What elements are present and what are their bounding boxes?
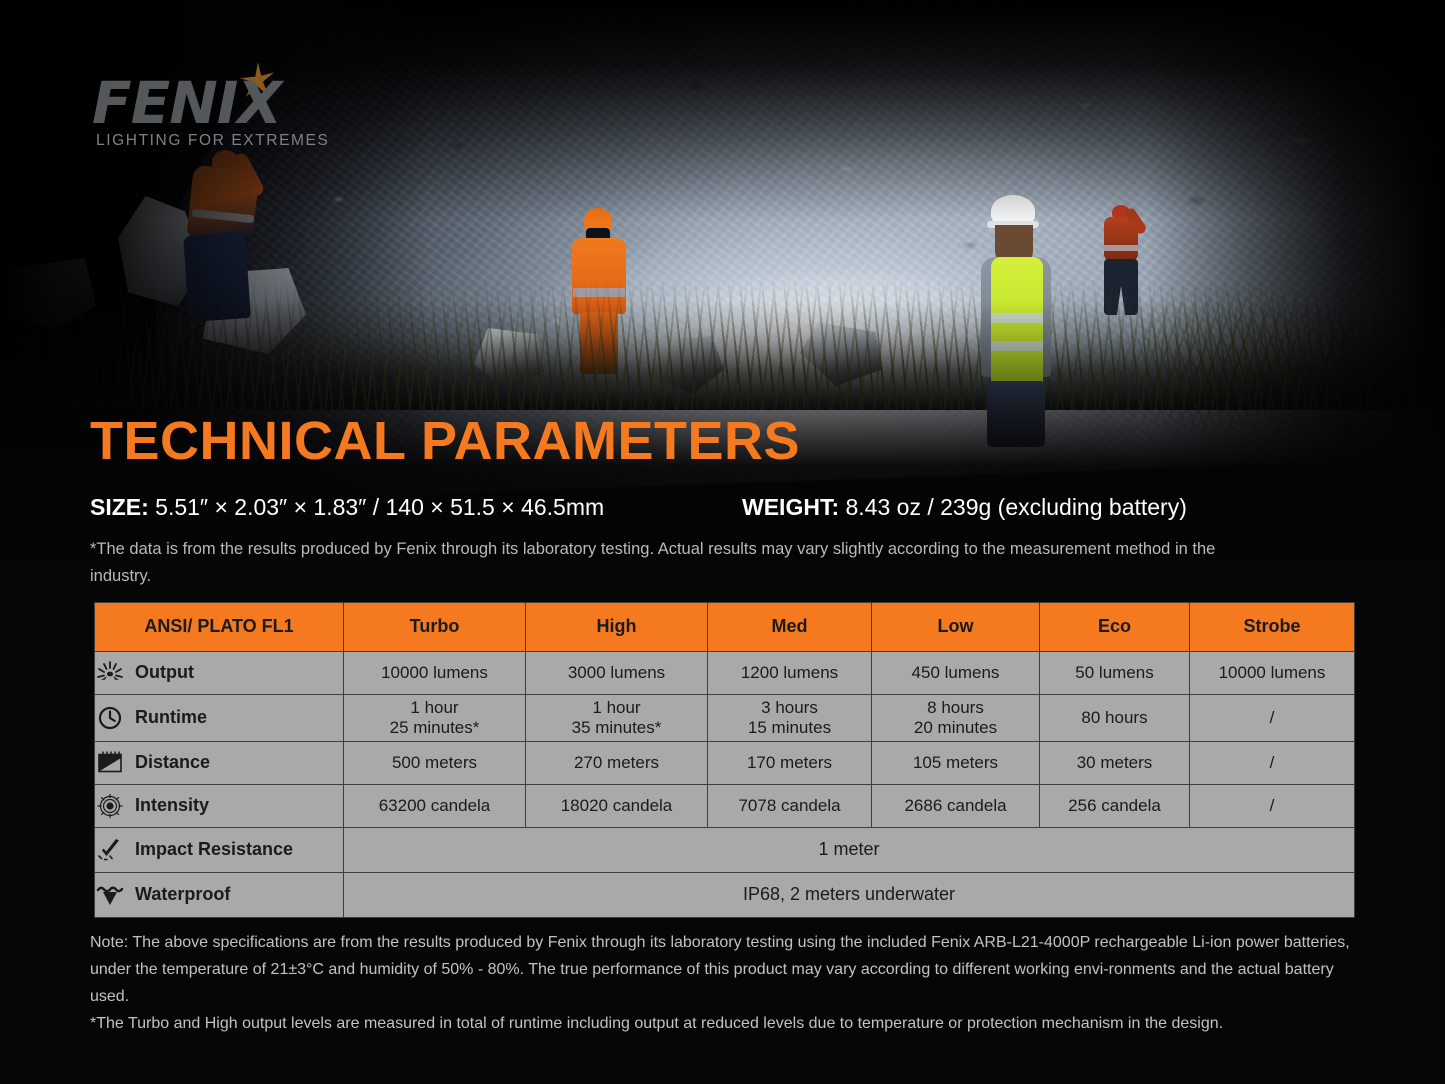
table-row: Impact Resistance 1 meter [95,828,1355,873]
cell-output-turbo: 10000 lumens [344,652,526,695]
cell-runtime-high: 1 hour 35 minutes* [526,695,708,742]
cell-output-high: 3000 lumens [526,652,708,695]
cell-waterproof-value: IP68, 2 meters underwater [344,873,1355,918]
cell-intensity-med: 7078 candela [708,785,872,828]
cell-intensity-eco: 256 candela [1040,785,1190,828]
weight-spec: WEIGHT: 8.43 oz / 239g (excluding batter… [742,494,1187,521]
footer-notes: Note: The above specifications are from … [90,930,1360,1038]
row-label-output: Output [95,652,344,695]
cell-intensity-high: 18020 candela [526,785,708,828]
logo-tagline: LIGHTING FOR EXTREMES [96,132,329,150]
cell-distance-strobe: / [1190,742,1355,785]
table-header: ANSI/ PLATO FL1 Turbo High Med Low Eco S… [95,603,1355,652]
row-label-text: Impact Resistance [135,839,293,860]
cell-runtime-turbo: 1 hour 25 minutes* [344,695,526,742]
beam-distance-icon [95,750,125,776]
table-row: Runtime 1 hour 25 minutes* 1 hour 35 min… [95,695,1355,742]
row-label-waterproof: Waterproof [95,873,344,918]
row-label-text: Intensity [135,795,209,816]
cell-distance-med: 170 meters [708,742,872,785]
cell-impact-resistance-value: 1 meter [344,828,1355,873]
cell-output-strobe: 10000 lumens [1190,652,1355,695]
cell-runtime-strobe: / [1190,695,1355,742]
cell-output-eco: 50 lumens [1040,652,1190,695]
footer-note-main: Note: The above specifications are from … [90,930,1360,1011]
sunburst-output-icon [95,660,125,686]
table-row: Waterproof IP68, 2 meters underwater [95,873,1355,918]
table-row: Output 10000 lumens 3000 lumens 1200 lum… [95,652,1355,695]
cell-intensity-low: 2686 candela [872,785,1040,828]
cell-output-low: 450 lumens [872,652,1040,695]
technical-parameters-page: FENIX LIGHTING FOR EXTREMES TECHNICAL PA… [0,0,1445,1084]
waterproof-icon [95,882,125,908]
cell-distance-low: 105 meters [872,742,1040,785]
size-label: SIZE: [90,494,149,520]
column-header-low: Low [872,603,1040,652]
table-body: Output 10000 lumens 3000 lumens 1200 lum… [95,652,1355,918]
cell-distance-turbo: 500 meters [344,742,526,785]
cell-runtime-low: 8 hours 20 minutes [872,695,1040,742]
column-header-eco: Eco [1040,603,1190,652]
target-intensity-icon [95,793,125,819]
column-header-strobe: Strobe [1190,603,1355,652]
row-label-impact-resistance: Impact Resistance [95,828,344,873]
row-label-text: Output [135,662,194,683]
row-label-text: Waterproof [135,884,230,905]
weight-value: 8.43 oz / 239g (excluding battery) [846,494,1187,520]
cell-distance-high: 270 meters [526,742,708,785]
size-value: 5.51″ × 2.03″ × 1.83″ / 140 × 51.5 × 46.… [155,494,604,520]
cell-distance-eco: 30 meters [1040,742,1190,785]
cell-intensity-strobe: / [1190,785,1355,828]
specification-table: ANSI/ PLATO FL1 Turbo High Med Low Eco S… [94,602,1355,918]
clock-runtime-icon [95,705,125,731]
logo-wordmark: FENIX [92,74,281,132]
table-header-row: ANSI/ PLATO FL1 Turbo High Med Low Eco S… [95,603,1355,652]
cell-output-med: 1200 lumens [708,652,872,695]
cell-intensity-turbo: 63200 candela [344,785,526,828]
column-header-ansi: ANSI/ PLATO FL1 [95,603,344,652]
weight-label: WEIGHT: [742,494,839,520]
column-header-high: High [526,603,708,652]
cell-runtime-eco: 80 hours [1040,695,1190,742]
page-title: TECHNICAL PARAMETERS [90,414,800,468]
row-label-distance: Distance [95,742,344,785]
column-header-turbo: Turbo [344,603,526,652]
table-row: Distance 500 meters 270 meters 170 meter… [95,742,1355,785]
size-spec: SIZE: 5.51″ × 2.03″ × 1.83″ / 140 × 51.5… [90,494,604,521]
fenix-logo: FENIX LIGHTING FOR EXTREMES [92,62,392,152]
row-label-runtime: Runtime [95,695,344,742]
row-label-intensity: Intensity [95,785,344,828]
table-row: Intensity 63200 candela 18020 candela 70… [95,785,1355,828]
impact-resistance-icon [95,837,125,863]
cell-runtime-med: 3 hours 15 minutes [708,695,872,742]
footer-note-asterisk: *The Turbo and High output levels are me… [90,1011,1360,1038]
row-label-text: Runtime [135,707,207,728]
column-header-med: Med [708,603,872,652]
specification-table-wrapper: ANSI/ PLATO FL1 Turbo High Med Low Eco S… [94,602,1354,918]
row-label-text: Distance [135,752,210,773]
lab-testing-disclaimer: *The data is from the results produced b… [90,536,1270,589]
